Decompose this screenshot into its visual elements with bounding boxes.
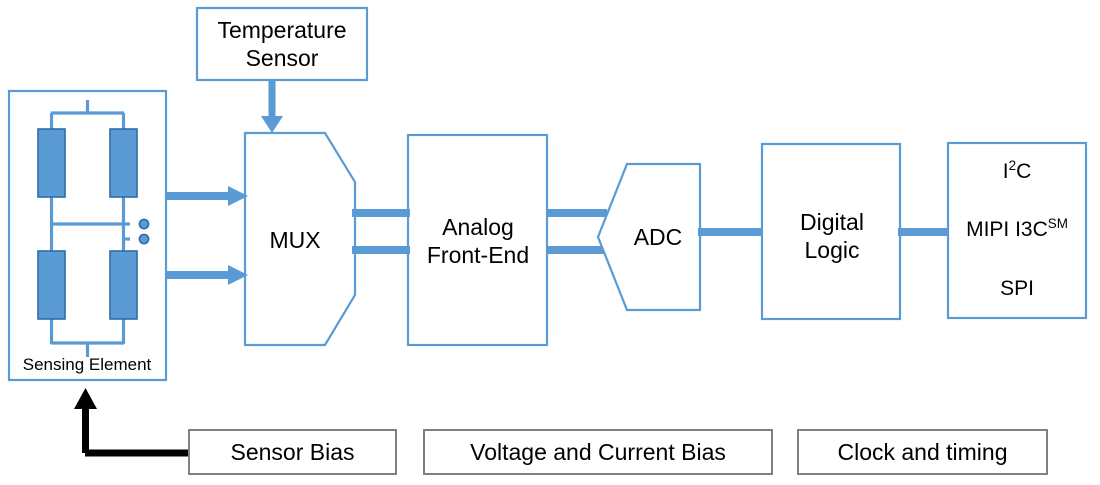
interface-box	[948, 143, 1086, 318]
diagram-canvas	[0, 0, 1100, 485]
digital-logic-box	[762, 144, 900, 319]
adc-block	[598, 164, 700, 310]
bridge-terminal-dot-upper	[139, 219, 148, 228]
connector-sensor-to-mux-lower	[166, 265, 248, 285]
resistor-top-left	[38, 129, 65, 197]
analog-front-end-box	[408, 135, 547, 345]
resistor-bottom-right	[110, 251, 137, 319]
bias-box-clock-timing-label: Clock and timing	[837, 439, 1007, 466]
temperature-sensor-box	[197, 8, 367, 80]
connector-sensor-to-mux-upper	[166, 186, 248, 206]
bridge-terminal-dot-lower	[139, 234, 148, 243]
mux-block	[245, 133, 355, 345]
resistor-bottom-left	[38, 251, 65, 319]
bias-box-voltage-current-bias[interactable]: Voltage and Current Bias	[423, 429, 773, 475]
bias-box-clock-timing[interactable]: Clock and timing	[797, 429, 1048, 475]
connector-temp-to-mux	[261, 80, 283, 133]
bias-box-sensor-bias[interactable]: Sensor Bias	[188, 429, 397, 475]
resistor-top-right	[110, 129, 137, 197]
bias-arrowhead	[74, 388, 97, 409]
bias-box-voltage-current-bias-label: Voltage and Current Bias	[470, 439, 726, 466]
bias-box-sensor-bias-label: Sensor Bias	[230, 439, 354, 466]
connector-sensor-bias-to-sensing-element	[85, 408, 188, 453]
block-diagram: Sensing Element Temperature Sensor MUX A…	[0, 0, 1100, 485]
